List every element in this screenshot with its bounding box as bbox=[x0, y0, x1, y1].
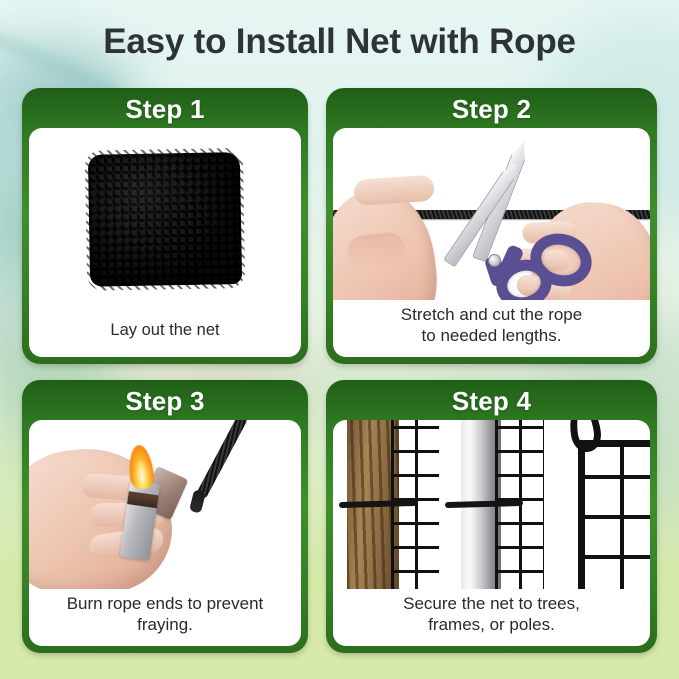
flame-icon bbox=[127, 443, 155, 489]
lighter-band bbox=[127, 491, 159, 508]
step-3-panel: Burn rope ends to prevent fraying. bbox=[29, 420, 301, 646]
step-3-caption: Burn rope ends to prevent fraying. bbox=[29, 589, 301, 647]
step-card-1: Step 1 Lay out the net bbox=[22, 88, 308, 364]
step-4-caption: Secure the net to trees, frames, or pole… bbox=[333, 589, 650, 647]
net-corner-loop-example bbox=[544, 420, 650, 589]
step-2-caption: Stretch and cut the rope to needed lengt… bbox=[333, 300, 650, 358]
net-on-pole-example bbox=[439, 420, 545, 589]
scissors-icon bbox=[448, 134, 598, 300]
step-3-illustration bbox=[29, 420, 301, 589]
step-2-header: Step 2 bbox=[326, 94, 657, 125]
step-1-panel: Lay out the net bbox=[29, 128, 301, 357]
net-edge-rope bbox=[578, 440, 585, 589]
step-3-header: Step 3 bbox=[22, 386, 308, 417]
scissors-blade bbox=[472, 139, 531, 262]
step-card-2: Step 2 bbox=[326, 88, 657, 364]
step-4-panel: Secure the net to trees, frames, or pole… bbox=[333, 420, 650, 646]
net-on-tree-example bbox=[333, 420, 439, 589]
scissors-pivot bbox=[488, 254, 501, 267]
page-title: Easy to Install Net with Rope bbox=[0, 22, 679, 62]
step-1-illustration bbox=[29, 128, 301, 316]
step-4-illustration bbox=[333, 420, 650, 589]
step-4-header: Step 4 bbox=[326, 386, 657, 417]
left-hand-icon bbox=[333, 183, 444, 299]
step-2-panel: Stretch and cut the rope to needed lengt… bbox=[333, 128, 650, 357]
step-1-header: Step 1 bbox=[22, 94, 308, 125]
thumb-shape bbox=[353, 174, 435, 206]
mesh-net-icon bbox=[88, 152, 242, 287]
step-card-4: Step 4 bbox=[326, 380, 657, 653]
rope-end-icon bbox=[195, 420, 248, 500]
net-mesh-icon bbox=[580, 442, 650, 589]
step-2-illustration bbox=[333, 128, 650, 300]
steps-grid: Step 1 Lay out the net Step 2 bbox=[22, 88, 657, 653]
knuckles-shape bbox=[345, 230, 407, 271]
step-card-3: Step 3 Burn rope ends to prevent fraying… bbox=[22, 380, 308, 653]
attachment-examples bbox=[333, 420, 650, 589]
step-1-caption: Lay out the net bbox=[29, 316, 301, 357]
